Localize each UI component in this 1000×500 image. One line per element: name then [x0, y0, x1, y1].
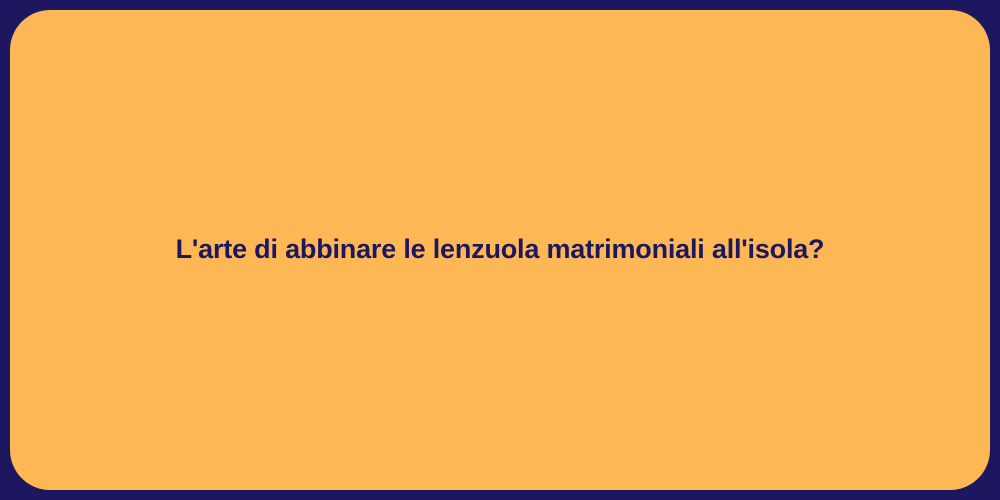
headline-text: L'arte di abbinare le lenzuola matrimoni… [10, 232, 990, 267]
banner-card: L'arte di abbinare le lenzuola matrimoni… [10, 10, 990, 490]
banner-frame: L'arte di abbinare le lenzuola matrimoni… [0, 0, 1000, 500]
